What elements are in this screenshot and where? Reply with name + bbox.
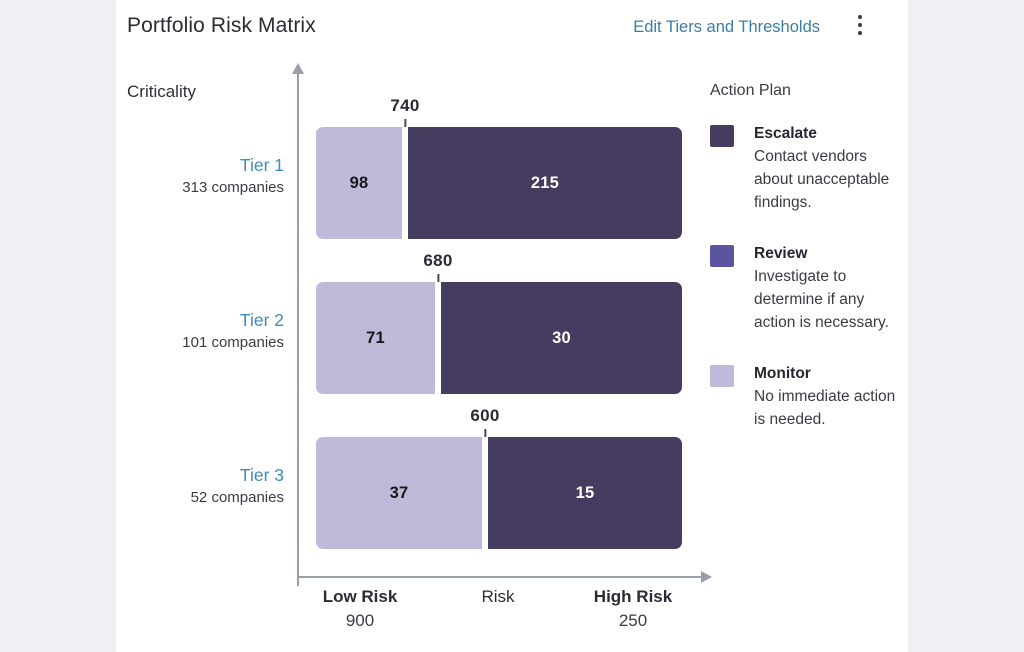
kebab-dot [858, 31, 862, 35]
tier-company-count: 101 companies [116, 332, 284, 354]
legend-item-description: Contact vendors about unacceptable findi… [754, 145, 900, 214]
bar-value: 15 [576, 484, 595, 503]
legend-item-name: Review [754, 242, 900, 265]
legend-item-name: Monitor [754, 362, 900, 385]
y-axis-arrow-icon [292, 63, 304, 74]
bar-value: 37 [390, 484, 409, 503]
threshold-tick [404, 119, 406, 127]
x-tick-risk: Risk [481, 584, 514, 609]
y-axis-label: Criticality [127, 82, 196, 102]
bar-value: 215 [531, 174, 559, 193]
tier-name[interactable]: Tier 1 [116, 153, 284, 177]
x-axis-label: Risk [481, 584, 514, 609]
bar-segment-monitor[interactable]: 71 [316, 282, 435, 394]
tier-row: Tier 3 52 companies 37 15 600 [116, 437, 716, 549]
x-tick-label: High Risk [594, 584, 672, 609]
tier-name[interactable]: Tier 3 [116, 463, 284, 487]
bar-segment-escalate[interactable]: 15 [488, 437, 682, 549]
x-axis-labels: Low Risk 900 Risk High Risk 250 [116, 584, 716, 644]
threshold-value: 600 [470, 406, 499, 426]
bar-segment-monitor[interactable]: 98 [316, 127, 402, 239]
x-tick-value: 250 [594, 609, 672, 633]
legend-swatch-monitor [710, 365, 734, 387]
bar-segment-monitor[interactable]: 37 [316, 437, 482, 549]
legend-swatch-escalate [710, 125, 734, 147]
tier-side-label: Tier 1 313 companies [116, 153, 284, 199]
tier-side-label: Tier 2 101 companies [116, 308, 284, 354]
threshold-marker: 600 [470, 406, 499, 437]
chart-plot-area: Criticality Action Plan Tier 1 313 compa… [116, 60, 908, 652]
portfolio-risk-matrix-card: Portfolio Risk Matrix Edit Tiers and Thr… [116, 0, 908, 652]
threshold-value: 680 [423, 251, 452, 271]
kebab-dot [858, 15, 862, 19]
bar-value: 30 [552, 329, 571, 348]
threshold-tick [484, 429, 486, 437]
kebab-menu-icon[interactable] [850, 15, 870, 43]
bar-value: 98 [350, 174, 369, 193]
edit-tiers-and-thresholds-link[interactable]: Edit Tiers and Thresholds [633, 18, 820, 37]
tier-company-count: 52 companies [116, 487, 284, 509]
x-axis-line [297, 576, 703, 578]
screenshot-root: Portfolio Risk Matrix Edit Tiers and Thr… [0, 0, 1024, 652]
legend-item-name: Escalate [754, 122, 900, 145]
legend-item-escalate[interactable]: Escalate Contact vendors about unaccepta… [710, 122, 900, 214]
bar-segment-escalate[interactable]: 215 [408, 127, 682, 239]
x-tick-label: Low Risk [323, 584, 398, 609]
threshold-value: 740 [390, 96, 419, 116]
tier-side-label: Tier 3 52 companies [116, 463, 284, 509]
tier-row: Tier 2 101 companies 71 30 680 [116, 282, 716, 394]
tier-bars: 37 15 [316, 437, 682, 549]
x-tick-low-risk: Low Risk 900 [323, 584, 398, 633]
legend: Escalate Contact vendors about unaccepta… [710, 122, 900, 453]
x-tick-value: 900 [323, 609, 398, 633]
legend-title: Action Plan [710, 82, 791, 100]
x-tick-high-risk: High Risk 250 [594, 584, 672, 633]
legend-item-monitor[interactable]: Monitor No immediate action is needed. [710, 362, 900, 431]
legend-item-review[interactable]: Review Investigate to determine if any a… [710, 242, 900, 334]
threshold-marker: 740 [390, 96, 419, 127]
threshold-marker: 680 [423, 251, 452, 282]
tier-row: Tier 1 313 companies 98 215 740 [116, 127, 716, 239]
legend-swatch-review [710, 245, 734, 267]
kebab-dot [858, 23, 862, 27]
tier-bars: 98 215 [316, 127, 682, 239]
bar-segment-escalate[interactable]: 30 [441, 282, 682, 394]
page-title: Portfolio Risk Matrix [127, 14, 316, 38]
threshold-tick [437, 274, 439, 282]
x-axis-arrow-icon [701, 571, 712, 583]
card-header: Portfolio Risk Matrix Edit Tiers and Thr… [116, 0, 908, 60]
bar-value: 71 [366, 329, 385, 348]
tier-bars: 71 30 [316, 282, 682, 394]
tier-company-count: 313 companies [116, 177, 284, 199]
legend-item-description: No immediate action is needed. [754, 385, 900, 431]
tier-name[interactable]: Tier 2 [116, 308, 284, 332]
legend-item-description: Investigate to determine if any action i… [754, 265, 900, 334]
